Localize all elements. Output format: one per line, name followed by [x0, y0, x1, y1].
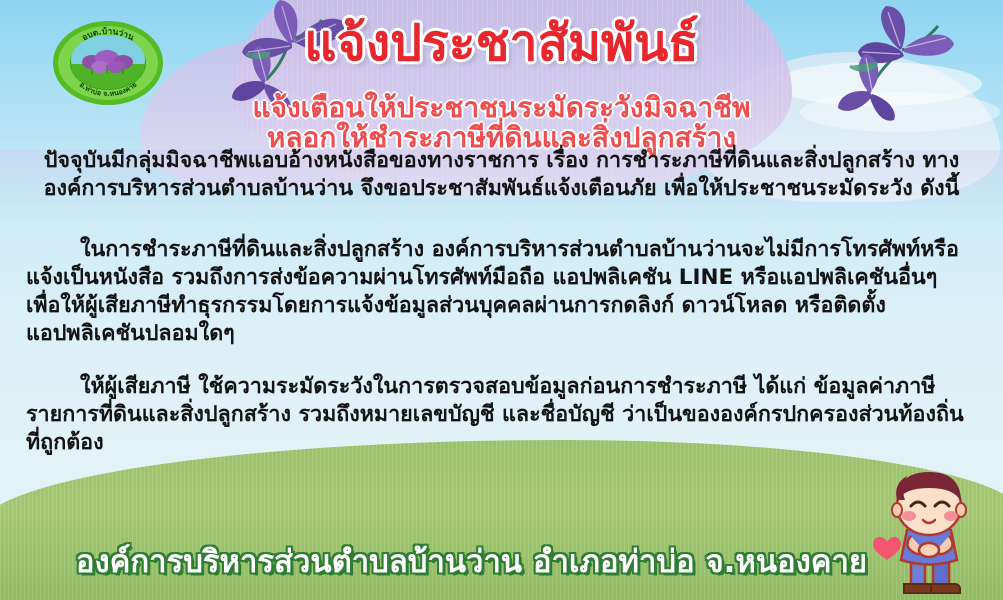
body-paragraph-2: ในการชำระภาษีที่ดินและสิ่งปลูกสร้าง องค์… [26, 236, 977, 348]
page-title: แจ้งประชาสัมพันธ์ [0, 16, 1003, 71]
heart-icon [873, 537, 901, 560]
wai-boy-icon [859, 470, 999, 598]
footer-organization-name: องค์การบริหารส่วนตำบลบ้านว่าน อำเภอท่าบ่… [0, 536, 1003, 586]
paragraph-text: ในการชำระภาษีที่ดินและสิ่งปลูกสร้าง องค์… [26, 236, 977, 348]
announcement-poster: อบต.บ้านว่าน อ.ท่าบ่อ จ.หนองคาย แจ้งประช… [0, 0, 1003, 600]
paragraph-text: ปัจจุบันมีกลุ่มมิจฉาชีพแอบอ้างหนังสือของ… [26, 147, 977, 203]
body-paragraph-1: ปัจจุบันมีกลุ่มมิจฉาชีพแอบอ้างหนังสือของ… [26, 147, 977, 203]
